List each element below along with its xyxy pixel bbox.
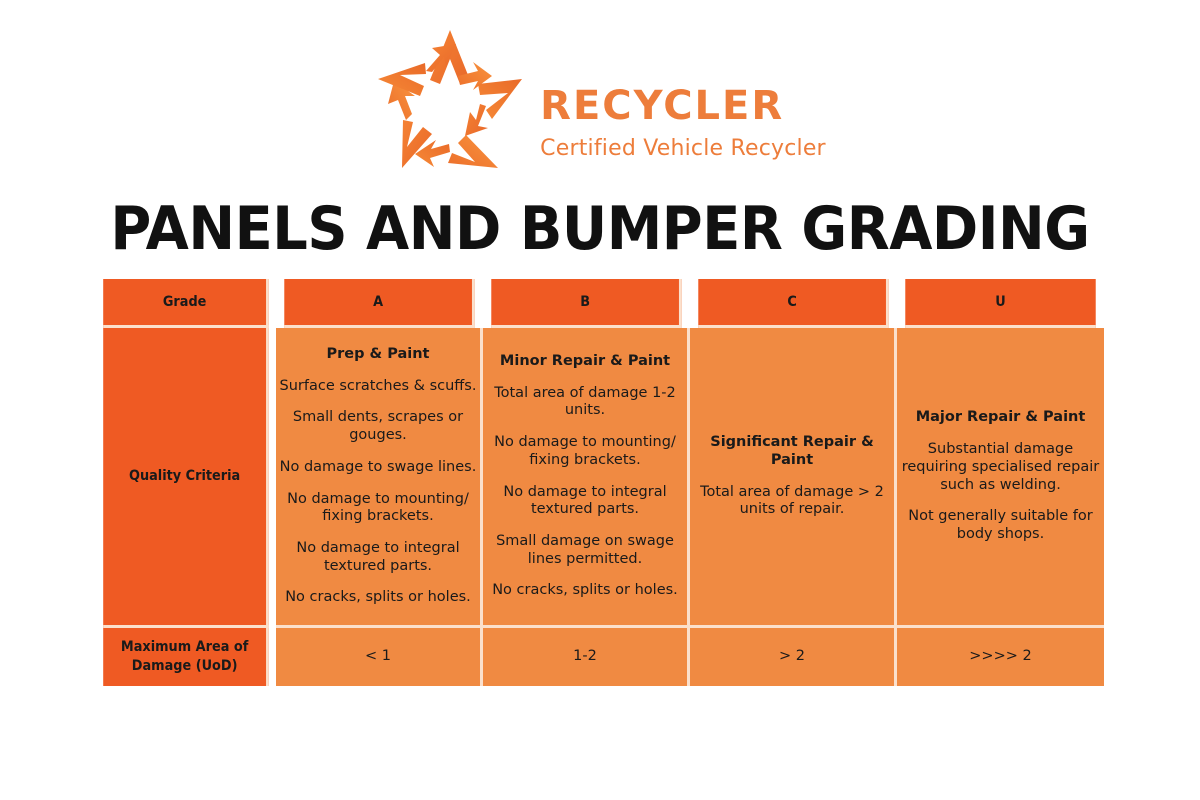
criteria-line: Total area of damage 1-2 units.: [483, 385, 687, 420]
brand-tagline: Certified Vehicle Recycler: [540, 138, 826, 160]
row-label-max-damage: Maximum Area of Damage (UoD): [103, 628, 269, 686]
criteria-line: No cracks, splits or holes.: [483, 582, 687, 600]
brand-logo: RECYCLER Certified Vehicle Recycler: [0, 24, 1200, 174]
criteria-line: Total area of damage > 2 units of repair…: [690, 484, 894, 519]
criteria-line: No damage to mounting/ fixing brackets.: [276, 491, 480, 526]
max-damage-value-a: < 1: [276, 628, 483, 686]
criteria-title-a: Prep & Paint: [276, 346, 480, 364]
criteria-cell-c: Significant Repair & Paint Total area of…: [690, 328, 897, 628]
criteria-title-b: Minor Repair & Paint: [483, 353, 687, 371]
criteria-title-u: Major Repair & Paint: [897, 409, 1104, 427]
header-cell-a: A: [284, 279, 474, 328]
criteria-line: No cracks, splits or holes.: [276, 589, 480, 607]
poster-page: RECYCLER Certified Vehicle Recycler PANE…: [0, 0, 1200, 800]
brand-wordmark: RECYCLER Certified Vehicle Recycler: [540, 38, 826, 160]
criteria-cell-u: Major Repair & Paint Substantial damage …: [897, 328, 1104, 628]
criteria-line: No damage to mounting/ fixing brackets.: [483, 434, 687, 469]
criteria-cell-b: Minor Repair & Paint Total area of damag…: [483, 328, 690, 628]
max-damage-value-c: > 2: [690, 628, 897, 686]
table-row-max-damage: Maximum Area of Damage (UoD) < 1 1-2 > 2…: [96, 628, 1104, 686]
criteria-line: Substantial damage requiring specialised…: [897, 441, 1104, 494]
criteria-line: No damage to integral textured parts.: [483, 484, 687, 519]
brand-name: RECYCLER: [540, 86, 784, 126]
row-label-quality-criteria: Quality Criteria: [103, 328, 269, 628]
criteria-line: Surface scratches & scuffs.: [276, 378, 480, 396]
criteria-line: Small dents, scrapes or gouges.: [276, 409, 480, 444]
recycler-star-logo-icon: [374, 24, 526, 174]
page-title: PANELS AND BUMPER GRADING: [42, 196, 1158, 262]
criteria-title-c: Significant Repair & Paint: [690, 434, 894, 469]
grading-table: Grade A B C U Quality Criteria Prep & Pa…: [96, 279, 1104, 686]
criteria-line: No damage to integral textured parts.: [276, 540, 480, 575]
header-cell-b: B: [491, 279, 681, 328]
criteria-line: Small damage on swage lines permitted.: [483, 533, 687, 568]
header-cell-c: C: [698, 279, 888, 328]
table-header-row: Grade A B C U: [96, 279, 1104, 328]
header-cell-u: U: [905, 279, 1095, 328]
criteria-cell-a: Prep & Paint Surface scratches & scuffs.…: [276, 328, 483, 628]
header-cell-grade: Grade: [103, 279, 269, 328]
criteria-line: Not generally suitable for body shops.: [897, 508, 1104, 543]
max-damage-value-b: 1-2: [483, 628, 690, 686]
table-row-quality-criteria: Quality Criteria Prep & Paint Surface sc…: [96, 328, 1104, 628]
criteria-line: No damage to swage lines.: [276, 459, 480, 477]
max-damage-value-u: >>>> 2: [897, 628, 1104, 686]
